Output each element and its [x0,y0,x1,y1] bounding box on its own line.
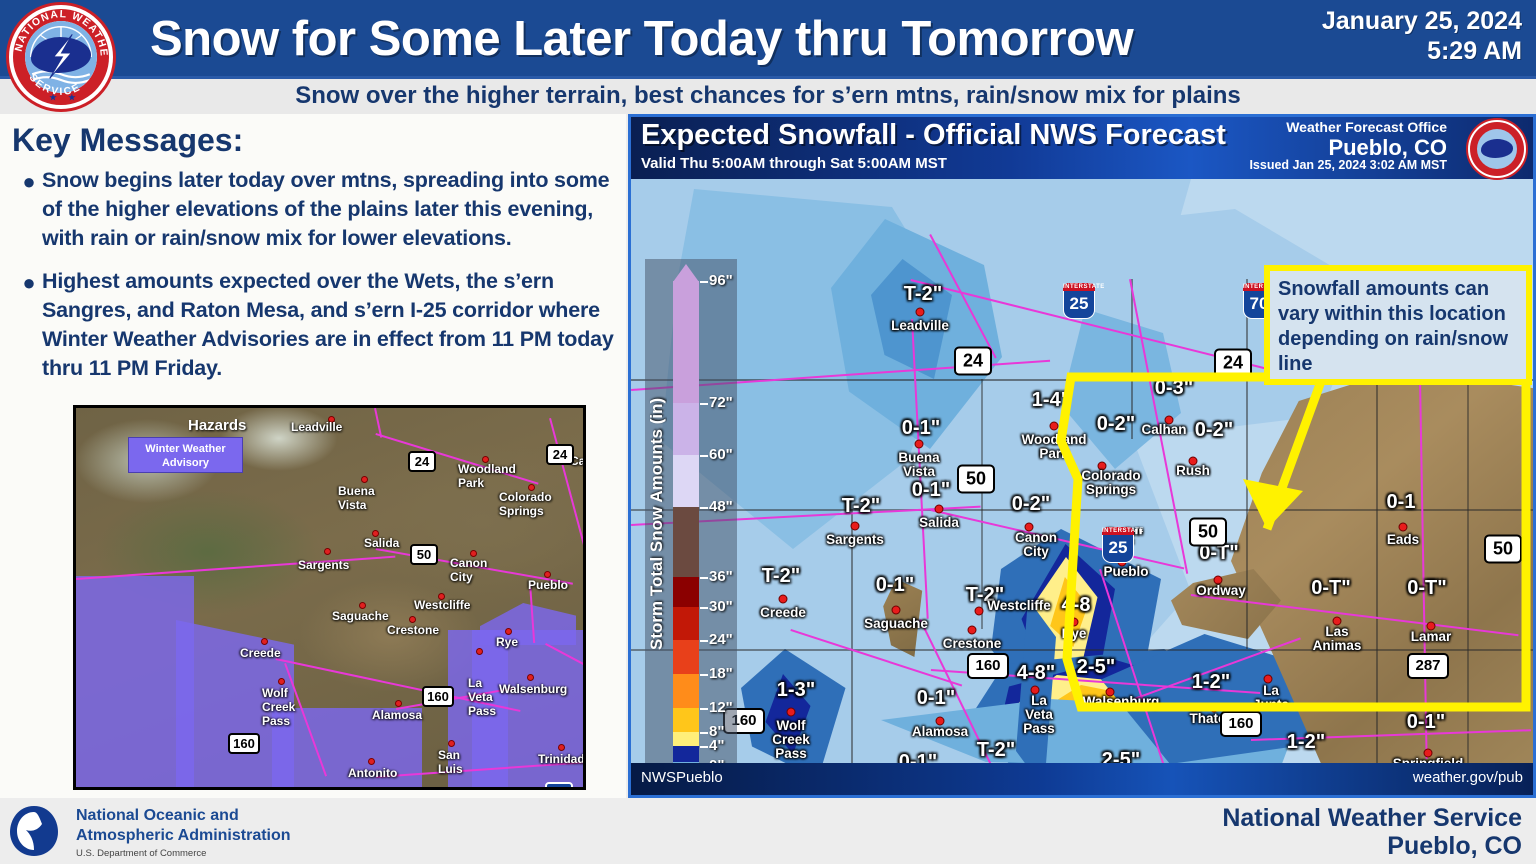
colorbar-label: 36" [709,568,733,585]
map-city-dot [916,308,925,317]
route-shield-i25: 25 [545,782,573,790]
map-city-dot [915,440,924,449]
hazards-map[interactable]: Hazards Winter Weather Advisory Leadvill… [73,405,586,790]
map-city-dot [975,607,984,616]
route-shield-160: 160 [228,733,260,754]
city-label-buena-vista: BuenaVista [898,451,939,479]
highway-line [1419,379,1428,759]
snowfall-amount-walsenburg: 2-5" [1077,656,1115,679]
snowfall-amount-eads: 0-1 [1387,491,1416,514]
header-date: January 25, 2024 [1222,6,1522,36]
colorbar-segment [673,708,699,732]
colorbar-segment [673,455,699,507]
city-label-canon-city: CanonCity [1015,531,1057,559]
hazards-map-title: Hazards [188,417,246,434]
interstate-number: 25 [1063,291,1095,319]
nws-roundel-icon [1466,118,1528,180]
city-label-la-junta: LaJunta [1253,684,1289,712]
map-city-dot [448,740,455,747]
map-canvas[interactable]: Storm Total Snow Amounts (in) [631,179,1533,769]
city-label-saguache: Saguache [864,617,928,631]
bullet-icon: ● [16,267,42,383]
snowfall-amount-creede: T-2" [762,565,800,588]
city-label-westcliffe: Westcliffe [987,599,1051,613]
colorbar-label: 24" [709,631,733,648]
key-messages-panel: Key Messages: ● Snow begins later today … [0,114,626,798]
colorbar-segment [673,607,699,640]
colorbar-arrow-icon [673,264,699,282]
route-shield-us50: 50 [1484,535,1522,564]
county-border [1467,379,1469,764]
colorbar-label: 4" [709,737,724,754]
noaa-seagull-icon [8,804,60,858]
colorbar-label: 18" [709,665,733,682]
map-valid-period: Valid Thu 5:00AM through Sat 5:00AM MST [641,155,947,172]
map-header: Expected Snowfall - Official NWS Forecas… [631,117,1533,179]
city-label-creede: Creede [760,606,806,620]
city-label-calhan: Calhan [1141,423,1186,437]
snowfall-amount-sargents: T-2" [842,495,880,518]
map-footer-url: weather.gov/pub [1413,769,1523,786]
snowfall-forecast-map[interactable]: Expected Snowfall - Official NWS Forecas… [628,114,1536,798]
map-city-dot [1050,422,1059,431]
city-label-rush: Rush [1176,464,1210,478]
map-city-dot [558,744,565,751]
snowfall-amount-rush: 0-2" [1195,419,1233,442]
colorbar-segment [673,281,699,403]
snowfall-amount-springfield: 0-1" [1407,711,1445,734]
snowfall-amount-leadville: T-2" [904,283,942,306]
map-city-dot [787,708,796,717]
noaa-line2: Atmospheric Administration [76,826,291,846]
map-city-dot [476,648,483,655]
route-shield-i25: INTERSTATE 25 [1063,283,1095,319]
map-city-dot [505,628,512,635]
snowfall-amount-buena-vista: 0-1" [902,417,940,440]
city-label-rye: Rye [1062,627,1087,641]
route-shield-us160: 160 [967,653,1009,679]
snowfall-amount-colorado-springs: 0-2" [1097,413,1135,436]
colorbar-segment [673,732,699,746]
map-city-dot [395,700,402,707]
map-city-dot [470,550,477,557]
county-border [631,649,1533,651]
annotation-callout: Snowfall amounts can vary within this lo… [1264,265,1532,385]
snowfall-amount-rye: 4-8 [1062,594,1091,617]
city-label-salida: Salida [919,516,959,530]
city-label-alamosa: Alamosa [912,725,968,739]
city-label-las-animas: LasAnimas [1313,625,1362,653]
route-shield-us287: 287 [1407,653,1449,679]
route-shield-us24: 24 [954,347,992,376]
map-footer-office: NWSPueblo [641,769,723,786]
noaa-name: National Oceanic and Atmospheric Adminis… [76,806,291,846]
footer-office-location: Pueblo, CO [1222,832,1522,860]
svg-text:★: ★ [58,94,66,105]
colorbar-segment [673,577,699,607]
route-shield-50: 50 [410,544,438,565]
map-city-dot [278,678,285,685]
city-label-walsenburg: Walsenburg [1083,695,1160,709]
colorbar-segment [673,403,699,455]
map-city-dot [359,602,366,609]
snowfall-amount-san-luis: T-2" [977,739,1015,762]
map-city-dot [409,616,416,623]
snowfall-amount-thatcher: 1-2" [1192,671,1230,694]
city-label-colorado-springs: ColoradoSprings [1081,469,1140,497]
footer-office: National Weather Service Pueblo, CO [1222,804,1522,860]
colorbar-strip [673,281,699,759]
route-shield-24: 24 [408,451,436,472]
colorbar-segment [673,674,699,708]
route-shield-us50: 50 [957,465,995,494]
colorbar-segment [673,746,699,762]
snowfall-amount-canon-city: 0-2" [1012,493,1050,516]
advisory-area-sw [73,576,194,790]
page-title: Snow for Some Later Today thru Tomorrow [150,6,1250,72]
map-city-dot [528,484,535,491]
route-shield-us50: 50 [1189,518,1227,547]
map-city-dot [261,638,268,645]
map-city-dot [851,522,860,531]
map-city-dot [779,595,788,604]
map-city-dot [527,674,534,681]
city-label-lamar: Lamar [1411,630,1452,644]
map-wfo-name: Pueblo, CO [1286,136,1447,160]
interstate-number: 25 [1102,535,1134,563]
route-shield-i25: INTERSTATE 25 [1102,527,1134,563]
key-messages-title: Key Messages: [12,122,243,159]
header-time: 5:29 AM [1222,36,1522,66]
bullet-text: Snow begins later today over mtns, sprea… [42,166,622,253]
list-item: ● Highest amounts expected over the Wets… [16,267,622,383]
footer-office-name: National Weather Service [1222,804,1522,832]
map-city-dot [328,416,335,423]
snowfall-amount-la-junta: 1-2" [1287,731,1325,754]
advisory-area-center [272,708,422,790]
colorbar: Storm Total Snow Amounts (in) [645,259,737,769]
route-shield-us24: 24 [1214,349,1252,378]
county-border [851,509,853,764]
snowfall-amount-las-animas: 0-T" [1311,577,1350,600]
highway-line [931,509,1185,569]
svg-text:NATIONAL WEATHER: NATIONAL WEATHER [9,5,109,58]
city-label-ordway: Ordway [1196,584,1246,598]
city-label-la-veta-pass: LaVetaPass [1023,694,1055,736]
map-issued: Issued Jan 25, 2024 3:02 AM MST [1249,158,1447,172]
city-label-wolf-creek-pass: WolfCreekPass [772,719,810,761]
highway-line [790,629,962,687]
map-city-dot [544,571,551,578]
map-city-dot [324,548,331,555]
colorbar-title: Storm Total Snow Amounts (in) [647,379,669,669]
map-city-dot [935,505,944,514]
map-city-dot [892,606,901,615]
city-label-crestone: Crestone [943,637,1002,651]
nws-roundel-icon: NATIONAL WEATHER SERVICE ★ ★ ★ [6,2,116,112]
city-label-sargents: Sargents [826,533,884,547]
snowfall-amount-alamosa: 0-1" [917,687,955,710]
colorbar-label: 30" [709,598,733,615]
map-city-dot [968,626,977,635]
route-shield-i25: 25 [585,569,586,590]
header-subtitle: Snow over the higher terrain, best chanc… [0,79,1536,113]
map-city-dot [482,456,489,463]
colorbar-label: 96" [709,272,733,289]
svg-text:★: ★ [68,92,76,103]
noaa-line1: National Oceanic and [76,806,291,826]
bullet-icon: ● [16,166,42,253]
map-city-dot [368,758,375,765]
colorbar-segment [673,640,699,674]
briefing-page: NATIONAL WEATHER SERVICE ★ ★ ★ Snow for … [0,0,1536,864]
city-label-eads: Eads [1387,533,1419,547]
colorbar-label: 60" [709,446,733,463]
route-shield-us160: 160 [1220,711,1262,737]
map-city-dot [372,530,379,537]
bullet-text: Highest amounts expected over the Wets, … [42,267,622,383]
city-label-leadville: Leadville [891,319,949,333]
colorbar-label: 72" [709,394,733,411]
colorbar-label: 12" [709,699,733,716]
map-wfo: Weather Forecast Office Pueblo, CO [1286,119,1447,160]
key-messages-list: ● Snow begins later today over mtns, spr… [16,166,622,397]
map-city-dot [361,476,368,483]
snowfall-amount-calhan: 0-3" [1155,377,1193,400]
hazards-legend-winter-weather-advisory: Winter Weather Advisory [128,437,243,473]
colorbar-segment [673,507,699,577]
svg-text:★: ★ [49,92,57,103]
list-item: ● Snow begins later today over mtns, spr… [16,166,622,253]
page-footer: National Oceanic and Atmospheric Adminis… [0,798,1536,864]
snowfall-amount-lamar: 0-T" [1407,577,1446,600]
map-city-dot [438,593,445,600]
colorbar-label: 48" [709,498,733,515]
snowfall-amount-wolf-creek-pass: 1-3" [777,679,815,702]
snowfall-amount-salida: 0-1" [912,479,950,502]
map-footer: NWSPueblo weather.gov/pub [631,763,1533,795]
map-city-dot [1399,523,1408,532]
route-shield-24: 24 [546,444,574,465]
header-datetime: January 25, 2024 5:29 AM [1222,6,1522,66]
noaa-department: U.S. Department of Commerce [76,848,206,859]
map-city-dot [584,448,586,455]
route-shield-160: 160 [422,686,454,707]
city-label-pueblo: Pueblo [1103,565,1148,579]
county-border [1376,379,1378,764]
map-title: Expected Snowfall - Official NWS Forecas… [641,119,1226,152]
snowfall-amount-woodland-park: 1-4" [1032,389,1070,412]
city-label-woodland-park: WoodlandPark [1022,433,1087,461]
snowfall-amount-la-veta-pass: 4-8" [1017,662,1055,685]
snowfall-amount-saguache: 0-1" [876,574,914,597]
map-wfo-label: Weather Forecast Office [1286,119,1447,135]
